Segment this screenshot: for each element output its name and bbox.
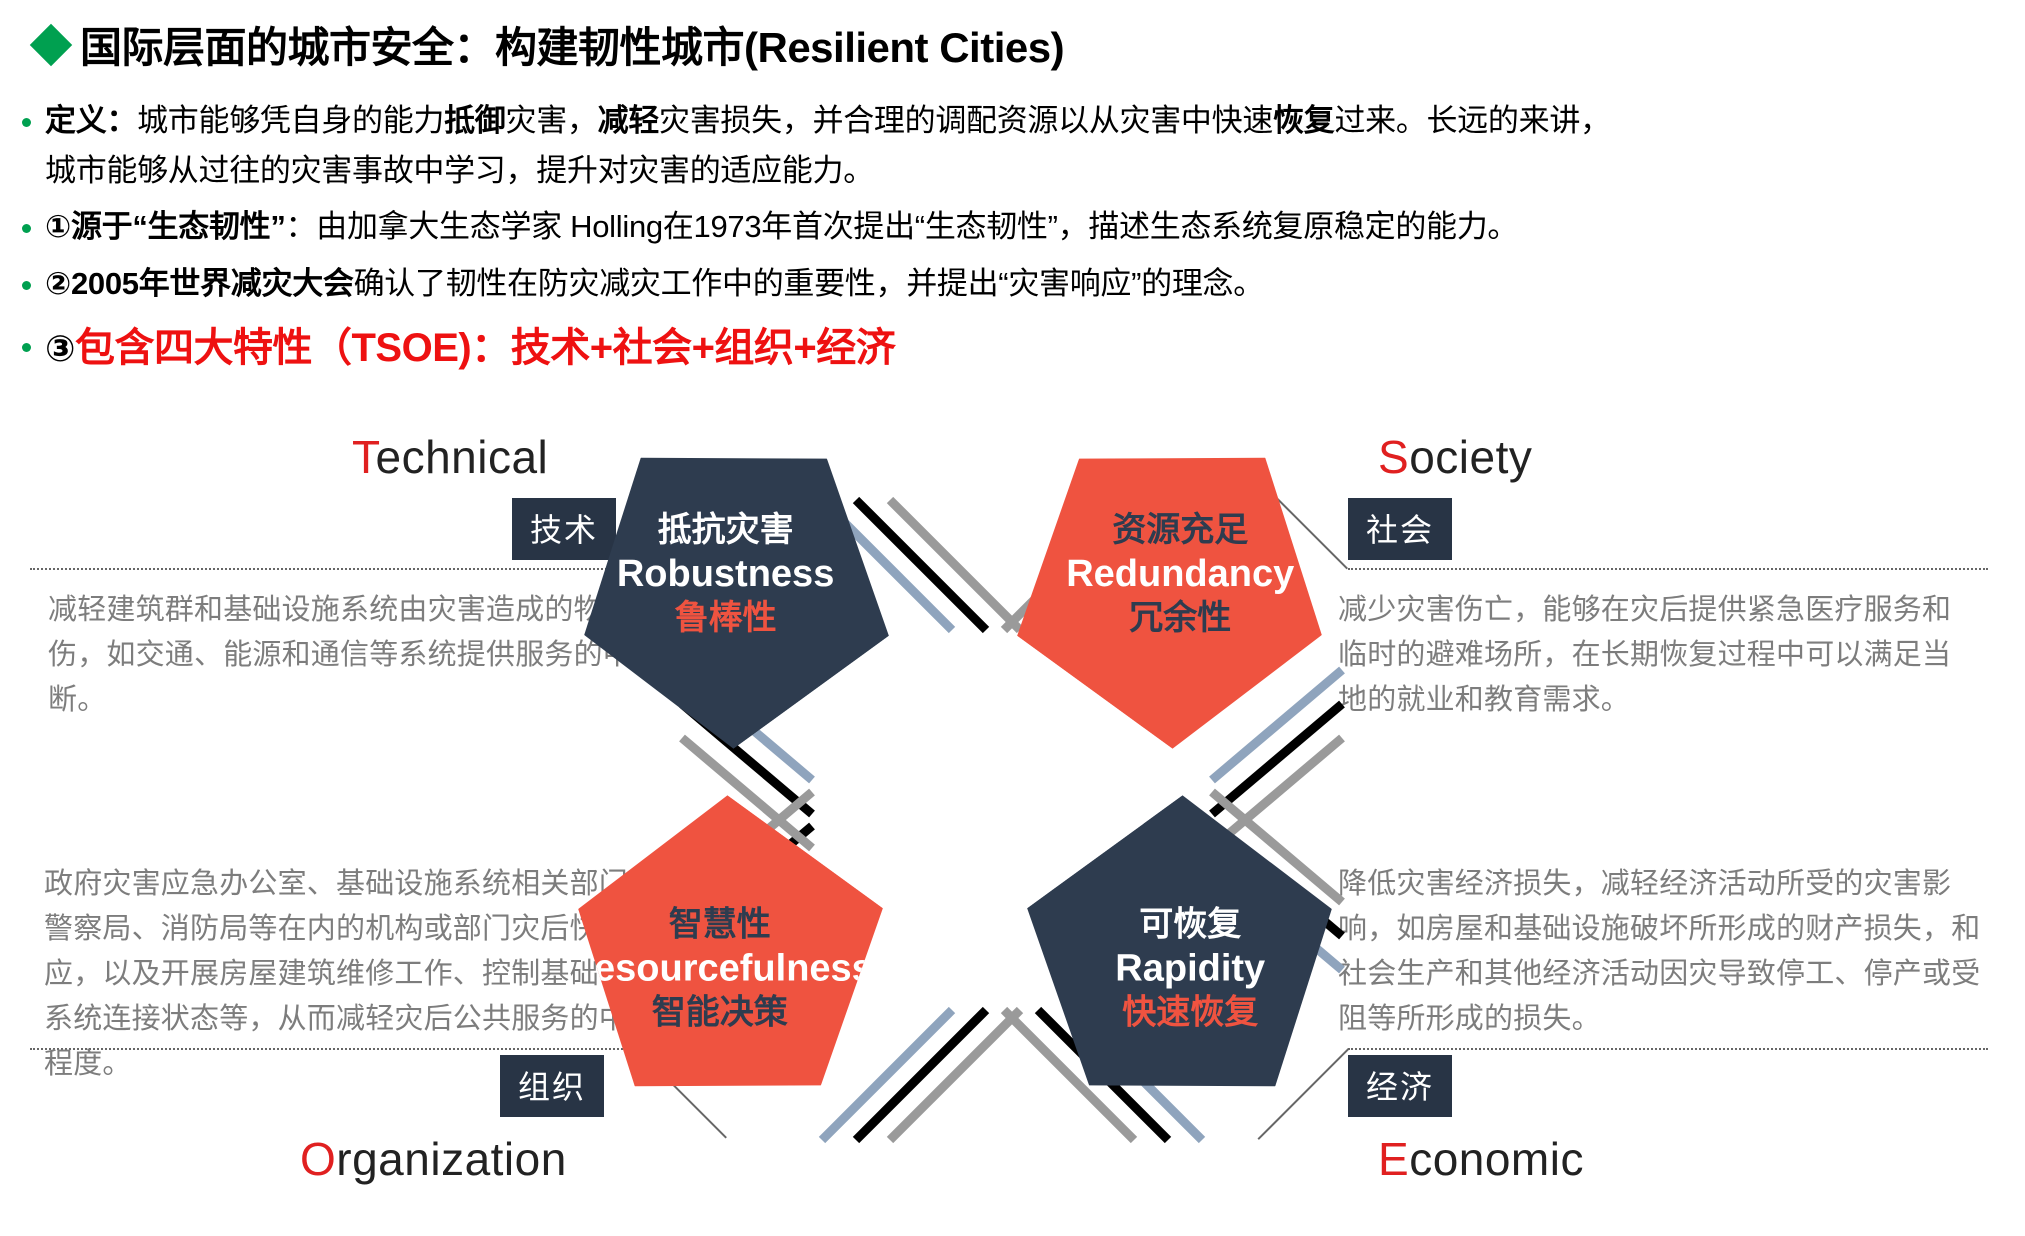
bullet-dot-icon [22, 343, 31, 352]
bullet-conference-2005: ②2005年世界减灾大会确认了韧性在防灾减灾工作中的重要性，并提出“灾害响应”的… [22, 259, 2012, 309]
pentagon-rapidity[interactable]: 可恢复 Rapidity 快速恢复 [983, 764, 1396, 1175]
quadrant-heading-economic: Economic [1378, 1132, 1584, 1186]
bullet-list: 定义：城市能够凭自身的能力抵御灾害，减轻灾害损失，并合理的调配资源以从灾害中快速… [22, 96, 2012, 379]
pentagon-resourcefulness-en: Resourcefulness [567, 946, 873, 992]
pentagon-rapidity-cn-bottom: 快速恢复 [1115, 992, 1265, 1033]
bullet-dot-icon [22, 118, 31, 127]
quadrant-paragraph-technical: 减轻建筑群和基础设施系统由灾害造成的物理损伤，如交通、能源和通信等系统提供服务的… [48, 588, 668, 723]
quadrant-tag-economic: 经济 [1348, 1055, 1452, 1117]
pentagon-redundancy-en: Redundancy [1066, 552, 1294, 598]
quadrant-heading-technical: Technical [352, 430, 548, 484]
slide-root: 国际层面的城市安全：构建韧性城市(Resilient Cities) 定义：城市… [0, 0, 2025, 1236]
leader-line-economic [1348, 1048, 1988, 1050]
tsoe-heading: ③包含四大特性（TSOE)：技术+社会+组织+经济 [45, 315, 895, 373]
bullet-dot-icon [22, 224, 31, 233]
page-title-text: 国际层面的城市安全：构建韧性城市(Resilient Cities) [80, 14, 1064, 75]
pentagon-redundancy-cn-bottom: 冗余性 [1066, 598, 1294, 639]
bullet-definition-line2: 城市能够从过往的灾害事故中学习，提升对灾害的适应能力。 [45, 146, 1611, 196]
diamond-icon [30, 23, 72, 65]
bullet-origin: ①源于“生态韧性”：由加拿大生态学家 Holling在1973年首次提出“生态韧… [22, 202, 2012, 252]
bullet-conference-text: ②2005年世界减灾大会确认了韧性在防灾减灾工作中的重要性，并提出“灾害响应”的… [45, 259, 1264, 309]
pentagon-robustness-cn-top: 抵抗灾害 [617, 510, 834, 551]
quadrant-tag-society: 社会 [1348, 498, 1452, 560]
pentagon-redundancy[interactable]: 资源充足 Redundancy 冗余性 [973, 370, 1386, 781]
pentagon-robustness-cn-bottom: 鲁棒性 [617, 598, 834, 639]
quadrant-paragraph-economic: 降低灾害经济损失，减轻经济活动所受的灾害影响，如房屋和基础设施破坏所形成的财产损… [1338, 862, 1988, 1042]
quadrant-tag-technical: 技术 [512, 498, 616, 560]
tsoe-diagram: Technical Society Organization Economic … [0, 430, 2025, 1236]
bullet-origin-text: ①源于“生态韧性”：由加拿大生态学家 Holling在1973年首次提出“生态韧… [45, 202, 1518, 252]
bullet-definition-line1: 定义：城市能够凭自身的能力抵御灾害，减轻灾害损失，并合理的调配资源以从灾害中快速… [45, 96, 1611, 146]
tsoe-heading-text: 包含四大特性（TSOE)：技术+社会+组织+经济 [75, 326, 895, 370]
chevron-decoration [0, 430, 2025, 1236]
quadrant-paragraph-organization: 政府灾害应急办公室、基础设施系统相关部门、警察局、消防局等在内的机构或部门灾后快… [44, 862, 684, 1087]
pentagon-resourcefulness-cn-top: 智慧性 [567, 904, 873, 945]
pentagon-redundancy-cn-top: 资源充足 [1066, 510, 1294, 551]
pentagon-rapidity-cn-top: 可恢复 [1115, 904, 1265, 945]
pentagon-rapidity-en: Rapidity [1115, 946, 1265, 992]
bullet-dot-icon [22, 281, 31, 290]
leader-line-technical [30, 568, 635, 570]
pentagon-robustness-en: Robustness [617, 552, 834, 598]
bullet-definition: 定义：城市能够凭自身的能力抵御灾害，减轻灾害损失，并合理的调配资源以从灾害中快速… [22, 96, 2012, 196]
page-title: 国际层面的城市安全：构建韧性城市(Resilient Cities) [36, 14, 1064, 75]
quadrant-heading-organization: Organization [300, 1132, 567, 1186]
quadrant-heading-society: Society [1378, 430, 1532, 484]
quadrant-paragraph-society: 减少灾害伤亡，能够在灾后提供紧急医疗服务和临时的避难场所，在长期恢复过程中可以满… [1338, 588, 1978, 723]
bullet-tsoe: ③包含四大特性（TSOE)：技术+社会+组织+经济 [22, 315, 2012, 373]
leader-line-society [1348, 568, 1988, 570]
